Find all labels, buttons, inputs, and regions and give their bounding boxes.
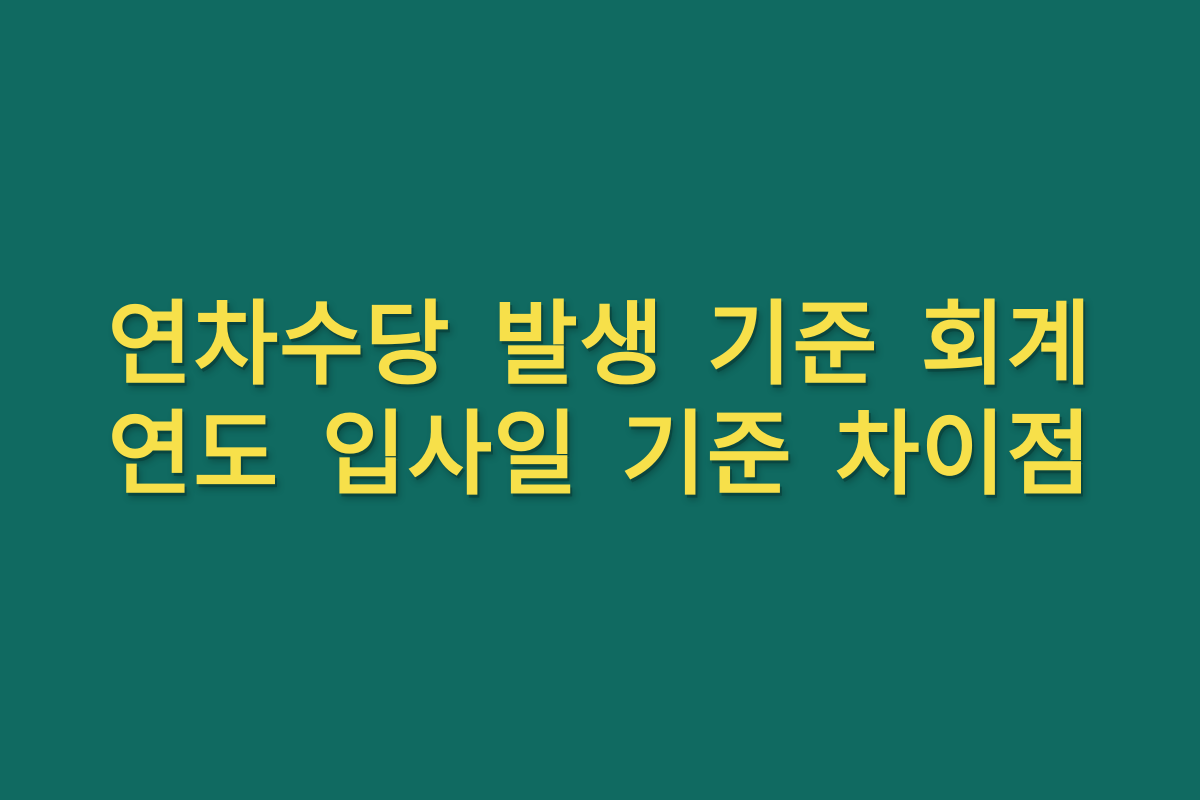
- poster-canvas: 연차수당 발생 기준 회계 연도 입사일 기준 차이점: [0, 0, 1200, 800]
- headline-line-2: 연도 입사일 기준 차이점: [52, 409, 1148, 501]
- headline-block: 연차수당 발생 기준 회계 연도 입사일 기준 차이점: [0, 299, 1200, 501]
- headline-line-1: 연차수당 발생 기준 회계: [52, 299, 1148, 391]
